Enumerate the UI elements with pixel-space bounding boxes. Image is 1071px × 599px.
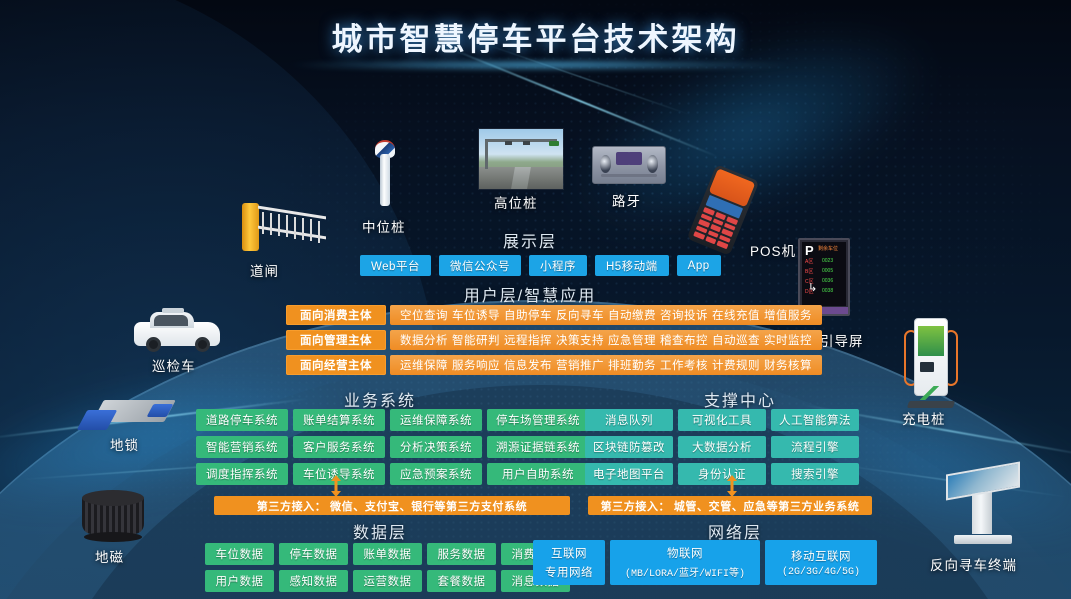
business-system-item[interactable]: 运维保障系统 <box>390 409 482 431</box>
support-center-item[interactable]: 身份认证 <box>678 463 766 485</box>
geo-bottom <box>84 532 142 542</box>
gate-bar-icon <box>258 226 326 240</box>
business-system-item[interactable]: 用户自助系统 <box>487 463 589 485</box>
page-title: 城市智慧停车平台技术架构 <box>0 14 1071 59</box>
device-curb-machine <box>592 146 666 184</box>
business-system-item[interactable]: 停车场管理系统 <box>487 409 589 431</box>
guide-zone-count: 0038 <box>822 288 833 294</box>
business-systems-grid: 道路停车系统 账单结算系统 运维保障系统 停车场管理系统 智能营销系统 客户服务… <box>196 409 579 485</box>
device-label-geomagnetic-sensor: 地磁 <box>95 546 124 566</box>
lens-icon <box>647 155 658 173</box>
user-item[interactable]: 工作考核 <box>658 357 710 373</box>
high-pole-gantry <box>485 139 557 142</box>
user-item[interactable]: 决策支持 <box>554 332 606 348</box>
user-item[interactable]: 车位诱导 <box>450 307 502 323</box>
support-center-item[interactable]: 流程引擎 <box>771 436 859 458</box>
architecture-diagram: 城市智慧停车平台技术架构 道闸 中位桩 高位桩 <box>0 0 1071 599</box>
arrow-right-icon: ↳ <box>808 283 817 294</box>
device-barrier-gate <box>238 195 328 255</box>
user-item[interactable]: 增值服务 <box>762 307 814 323</box>
business-system-item[interactable]: 客户服务系统 <box>293 436 385 458</box>
guide-screen-header: 剩余车位 <box>818 245 838 252</box>
user-item[interactable]: 计费规则 <box>710 357 762 373</box>
user-item[interactable]: 运维保障 <box>398 357 450 373</box>
user-item[interactable]: 自动缴费 <box>606 307 658 323</box>
user-row-items-management: 数据分析 智能研判 远程指挥 决策支持 应急管理 稽查布控 自动巡查 实时监控 <box>390 330 822 350</box>
user-item[interactable]: 排班勤务 <box>606 357 658 373</box>
user-row-tag-operator: 面向经营主体 <box>286 355 386 375</box>
data-layer-grid: 车位数据 停车数据 账单数据 服务数据 消费数据 用户数据 感知数据 运营数据 … <box>205 543 570 592</box>
business-system-item[interactable]: 应急预案系统 <box>390 463 482 485</box>
user-item[interactable]: 应急管理 <box>606 332 658 348</box>
network-item-line1: 移动互联网 <box>791 548 851 564</box>
user-item[interactable]: 稽查布控 <box>658 332 710 348</box>
user-item[interactable]: 智能研判 <box>450 332 502 348</box>
high-pole-road <box>479 167 563 189</box>
support-center-item[interactable]: 搜索引擎 <box>771 463 859 485</box>
support-center-item[interactable]: 可视化工具 <box>678 409 766 431</box>
support-center-item[interactable]: 电子地图平台 <box>585 463 673 485</box>
guide-zone-label: B区 <box>805 268 813 275</box>
data-layer-item[interactable]: 服务数据 <box>427 543 496 565</box>
display-item-web[interactable]: Web平台 <box>360 255 431 276</box>
guide-zone-count: 0023 <box>822 258 833 264</box>
device-label-curb-machine: 路牙 <box>612 190 641 210</box>
data-layer-title: 数据层 <box>300 519 460 543</box>
car-window <box>154 315 188 326</box>
kiosk-base <box>954 535 1012 544</box>
network-item-line1: 物联网 <box>667 545 703 561</box>
device-label-reverse-car-finding-terminal: 反向寻车终端 <box>930 554 1017 574</box>
business-system-item[interactable]: 智能营销系统 <box>196 436 288 458</box>
device-label-ground-lock: 地锁 <box>110 434 139 454</box>
user-row-items-operator: 运维保障 服务响应 信息发布 营销推广 排班勤务 工作考核 计费规则 财务核算 <box>390 355 822 375</box>
arrow-up-down-icon-right <box>726 475 738 497</box>
geo-top <box>82 490 144 506</box>
device-label-charging-pile: 充电桩 <box>902 408 946 428</box>
user-item[interactable]: 远程指挥 <box>502 332 554 348</box>
display-item-miniprogram[interactable]: 小程序 <box>529 255 587 276</box>
data-layer-item[interactable]: 套餐数据 <box>427 570 496 592</box>
camera-icon <box>505 141 512 145</box>
traffic-light-icon <box>549 141 559 146</box>
barrier-gate-arm <box>258 211 326 237</box>
user-item[interactable]: 营销推广 <box>554 357 606 373</box>
sensor-icon <box>628 152 642 165</box>
kiosk-column <box>972 492 992 534</box>
guide-zone-count: 0005 <box>822 268 833 274</box>
charging-pile-screen <box>918 326 944 356</box>
network-layer-row: 互联网 专用网络 物联网 (MB/LORA/蓝牙/WIFI等) 移动互联网 (2… <box>533 540 877 585</box>
device-label-mid-pole: 中位桩 <box>362 216 406 236</box>
network-item-mobile-internet[interactable]: 移动互联网 (2G/3G/4G/5G) <box>765 540 877 585</box>
device-charging-pile <box>906 318 956 404</box>
business-system-item[interactable]: 道路停车系统 <box>196 409 288 431</box>
network-item-iot[interactable]: 物联网 (MB/LORA/蓝牙/WIFI等) <box>610 540 760 585</box>
device-high-pole <box>478 128 564 190</box>
network-item-line1: 互联网 <box>551 545 587 561</box>
device-reverse-car-finding-terminal <box>946 468 1020 544</box>
roof-sensor-icon <box>162 308 184 313</box>
device-ground-lock <box>82 396 178 434</box>
network-item-line2: (MB/LORA/蓝牙/WIFI等) <box>625 564 745 580</box>
user-item[interactable]: 实时监控 <box>762 332 814 348</box>
arrow-up-down-icon-left <box>330 475 342 497</box>
business-system-item[interactable]: 溯源证据链系统 <box>487 436 589 458</box>
support-center-item[interactable]: 大数据分析 <box>678 436 766 458</box>
display-item-h5[interactable]: H5移动端 <box>595 255 669 276</box>
device-label-pos-terminal: POS机 <box>750 240 796 260</box>
business-systems-title: 业务系统 <box>300 387 460 411</box>
charging-pile-base <box>907 401 955 408</box>
curb-bar <box>601 174 657 177</box>
charging-pile-panel <box>920 362 934 372</box>
guide-zone-label: A区 <box>805 258 813 265</box>
data-layer-item[interactable]: 停车数据 <box>279 543 348 565</box>
display-item-app[interactable]: App <box>677 255 721 276</box>
device-label-patrol-car: 巡检车 <box>152 355 196 375</box>
user-item[interactable]: 咨询投诉 <box>658 307 710 323</box>
business-system-item[interactable]: 账单结算系统 <box>293 409 385 431</box>
display-layer-items: Web平台 微信公众号 小程序 H5移动端 App <box>360 255 721 276</box>
support-center-item[interactable]: 人工智能算法 <box>771 409 859 431</box>
guide-screen-display: P 剩余车位 A区 0023 B区 0005 C区 0036 D区 0038 ↳ <box>802 242 846 306</box>
high-pole-mast <box>485 139 488 169</box>
data-layer-item[interactable]: 感知数据 <box>279 570 348 592</box>
device-label-guide-screen: 引导屏 <box>820 330 864 350</box>
parking-p-icon: P <box>805 244 814 257</box>
charging-pile-stripe <box>915 386 947 400</box>
user-item[interactable]: 空位查询 <box>398 307 450 323</box>
data-layer-item[interactable]: 车位数据 <box>205 543 274 565</box>
support-center-title: 支撑中心 <box>660 387 820 411</box>
user-layer-row: 面向消费主体 空位查询 车位诱导 自助停车 反向寻车 自动缴费 咨询投诉 在线充… <box>286 305 822 325</box>
data-layer-item[interactable]: 运营数据 <box>353 570 422 592</box>
user-item[interactable]: 信息发布 <box>502 357 554 373</box>
device-mid-pole <box>372 140 398 208</box>
user-layer-row: 面向管理主体 数据分析 智能研判 远程指挥 决策支持 应急管理 稽查布控 自动巡… <box>286 330 822 350</box>
user-item[interactable]: 数据分析 <box>398 332 450 348</box>
title-underglow <box>290 60 790 70</box>
barrier-gate-post <box>242 203 259 251</box>
user-item[interactable]: 在线充值 <box>710 307 762 323</box>
user-layer-rows: 面向消费主体 空位查询 车位诱导 自助停车 反向寻车 自动缴费 咨询投诉 在线充… <box>286 305 822 375</box>
support-center-item[interactable]: 区块链防篡改 <box>585 436 673 458</box>
guide-zone-count: 0036 <box>822 278 833 284</box>
lens-icon <box>600 155 611 173</box>
ground-lock-base <box>77 410 118 430</box>
gate-bar-icon <box>258 206 326 220</box>
third-party-payment-bar[interactable]: 第三方接入： 微信、支付宝、银行等第三方支付系统 <box>214 496 570 515</box>
device-geomagnetic-sensor <box>82 490 144 542</box>
mid-pole-shaft <box>380 154 390 206</box>
device-label-high-pole: 高位桩 <box>494 192 538 212</box>
support-center-item[interactable]: 消息队列 <box>585 409 673 431</box>
user-item[interactable]: 自助停车 <box>502 307 554 323</box>
user-item[interactable]: 反向寻车 <box>554 307 606 323</box>
user-layer-title: 用户层/智慧应用 <box>390 282 670 306</box>
business-system-item[interactable]: 调度指挥系统 <box>196 463 288 485</box>
user-item[interactable]: 自动巡查 <box>710 332 762 348</box>
camera-icon <box>523 141 530 145</box>
user-item[interactable]: 服务响应 <box>450 357 502 373</box>
user-row-tag-management: 面向管理主体 <box>286 330 386 350</box>
network-item-line2: 专用网络 <box>545 564 593 580</box>
user-row-tag-consumer: 面向消费主体 <box>286 305 386 325</box>
support-center-grid: 消息队列 可视化工具 人工智能算法 区块链防篡改 大数据分析 流程引擎 电子地图… <box>585 409 859 485</box>
network-item-internet[interactable]: 互联网 专用网络 <box>533 540 605 585</box>
network-item-line2: (2G/3G/4G/5G) <box>782 567 860 578</box>
user-item[interactable]: 财务核算 <box>762 357 814 373</box>
display-layer-title: 展示层 <box>430 228 630 252</box>
device-label-barrier-gate: 道闸 <box>250 260 279 280</box>
user-row-items-consumer: 空位查询 车位诱导 自助停车 反向寻车 自动缴费 咨询投诉 在线充值 增值服务 <box>390 305 822 325</box>
user-layer-row: 面向经营主体 运维保障 服务响应 信息发布 营销推广 排班勤务 工作考核 计费规… <box>286 355 822 375</box>
data-layer-item[interactable]: 用户数据 <box>205 570 274 592</box>
device-patrol-car <box>134 308 220 352</box>
display-item-wechat[interactable]: 微信公众号 <box>439 255 521 276</box>
business-system-item[interactable]: 分析决策系统 <box>390 436 482 458</box>
third-party-business-bar[interactable]: 第三方接入： 城管、交管、应急等第三方业务系统 <box>588 496 872 515</box>
data-layer-item[interactable]: 账单数据 <box>353 543 422 565</box>
